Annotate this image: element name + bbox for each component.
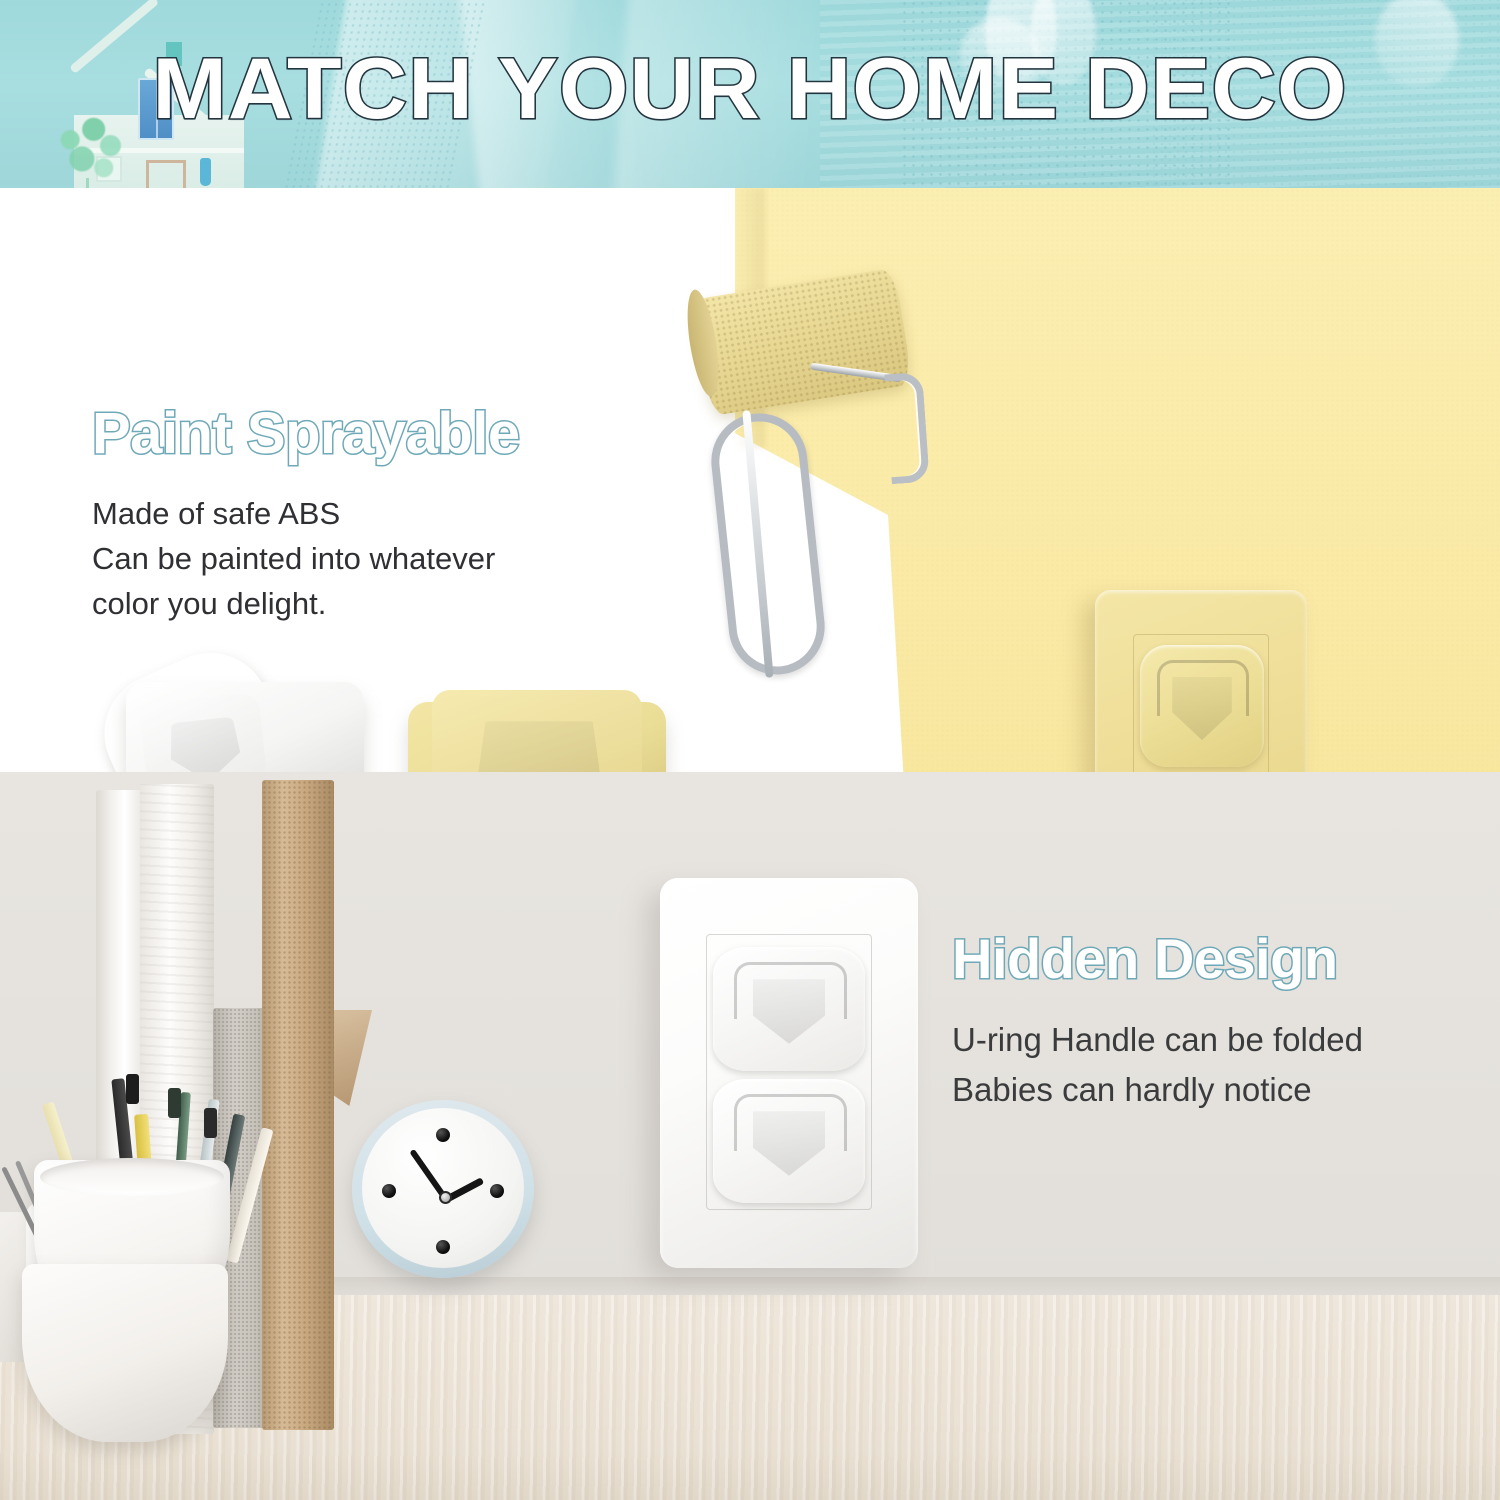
outlet-arrow-icon <box>753 1111 826 1175</box>
pen-cap-black <box>126 1074 139 1104</box>
outlet-cover-bottom <box>713 1079 865 1203</box>
plate-inner-frame <box>1133 634 1269 772</box>
hidden-design-text-block: Hidden Design U-ring Handle can be folde… <box>952 930 1482 1115</box>
pen-cap-green <box>168 1088 181 1118</box>
paint-sprayable-text-block: Paint Sprayable Made of safe ABS Can be … <box>92 404 692 627</box>
paint-sprayable-body-line-1: Made of safe ABS <box>92 491 692 536</box>
plant-stem <box>86 178 89 188</box>
clock-marker-6 <box>436 1240 450 1254</box>
outlet-cover-top <box>713 947 865 1071</box>
outlet-plug-cover-yellow <box>400 684 700 772</box>
folded-u-ring-handle-yellow <box>432 690 642 772</box>
white-bowl-stacked <box>22 1264 228 1442</box>
hidden-design-body-line-1: U-ring Handle can be folded <box>952 1015 1482 1065</box>
clock-marker-12 <box>436 1128 450 1142</box>
header-banner: MATCH YOUR HOME DECO <box>0 0 1500 188</box>
plug-lid-white <box>139 692 270 772</box>
paint-sprayable-heading: Paint Sprayable <box>92 404 692 465</box>
outlet-wall-plate-white <box>660 878 918 1268</box>
clock-face <box>362 1108 524 1268</box>
page-title: MATCH YOUR HOME DECO <box>0 46 1500 132</box>
roller-arm <box>884 372 930 484</box>
hidden-design-body-line-2: Babies can hardly notice <box>952 1065 1482 1115</box>
clock-center-pin <box>439 1191 452 1204</box>
hidden-design-heading: Hidden Design <box>952 930 1482 989</box>
plate-inner-frame <box>706 934 872 1210</box>
lid-emboss-icon <box>478 721 600 772</box>
desk-clock <box>352 1100 534 1300</box>
paint-sprayable-body-line-3: color you delight. <box>92 581 692 626</box>
lid-emboss-icon <box>167 716 243 772</box>
paper-column-tan <box>262 780 334 1430</box>
white-bowl-rim <box>40 1158 224 1196</box>
paint-sprayable-body-line-2: Can be painted into whatever <box>92 536 692 581</box>
product-infographic: MATCH YOUR HOME DECO <box>0 0 1500 1500</box>
outlet-arrow-icon <box>1172 677 1232 740</box>
hidden-design-panel <box>0 772 1500 1500</box>
dollhouse-vase <box>200 158 211 186</box>
clock-marker-9 <box>382 1184 396 1198</box>
pen-cap-dark <box>204 1108 217 1138</box>
paint-sprayable-panel: Paint Sprayable Made of safe ABS Can be … <box>0 188 1500 772</box>
roller-handle <box>707 409 830 680</box>
product-plug-group <box>80 656 700 772</box>
outlet-cover-top <box>1140 645 1264 767</box>
dollhouse-chair <box>146 160 186 188</box>
clock-marker-3 <box>490 1184 504 1198</box>
paint-roller <box>690 273 1000 713</box>
outlet-arrow-icon <box>753 979 826 1043</box>
outlet-wall-plate-yellow <box>1095 590 1307 772</box>
roller-sleeve <box>692 268 913 417</box>
outlet-plug-cover-white <box>90 656 390 772</box>
